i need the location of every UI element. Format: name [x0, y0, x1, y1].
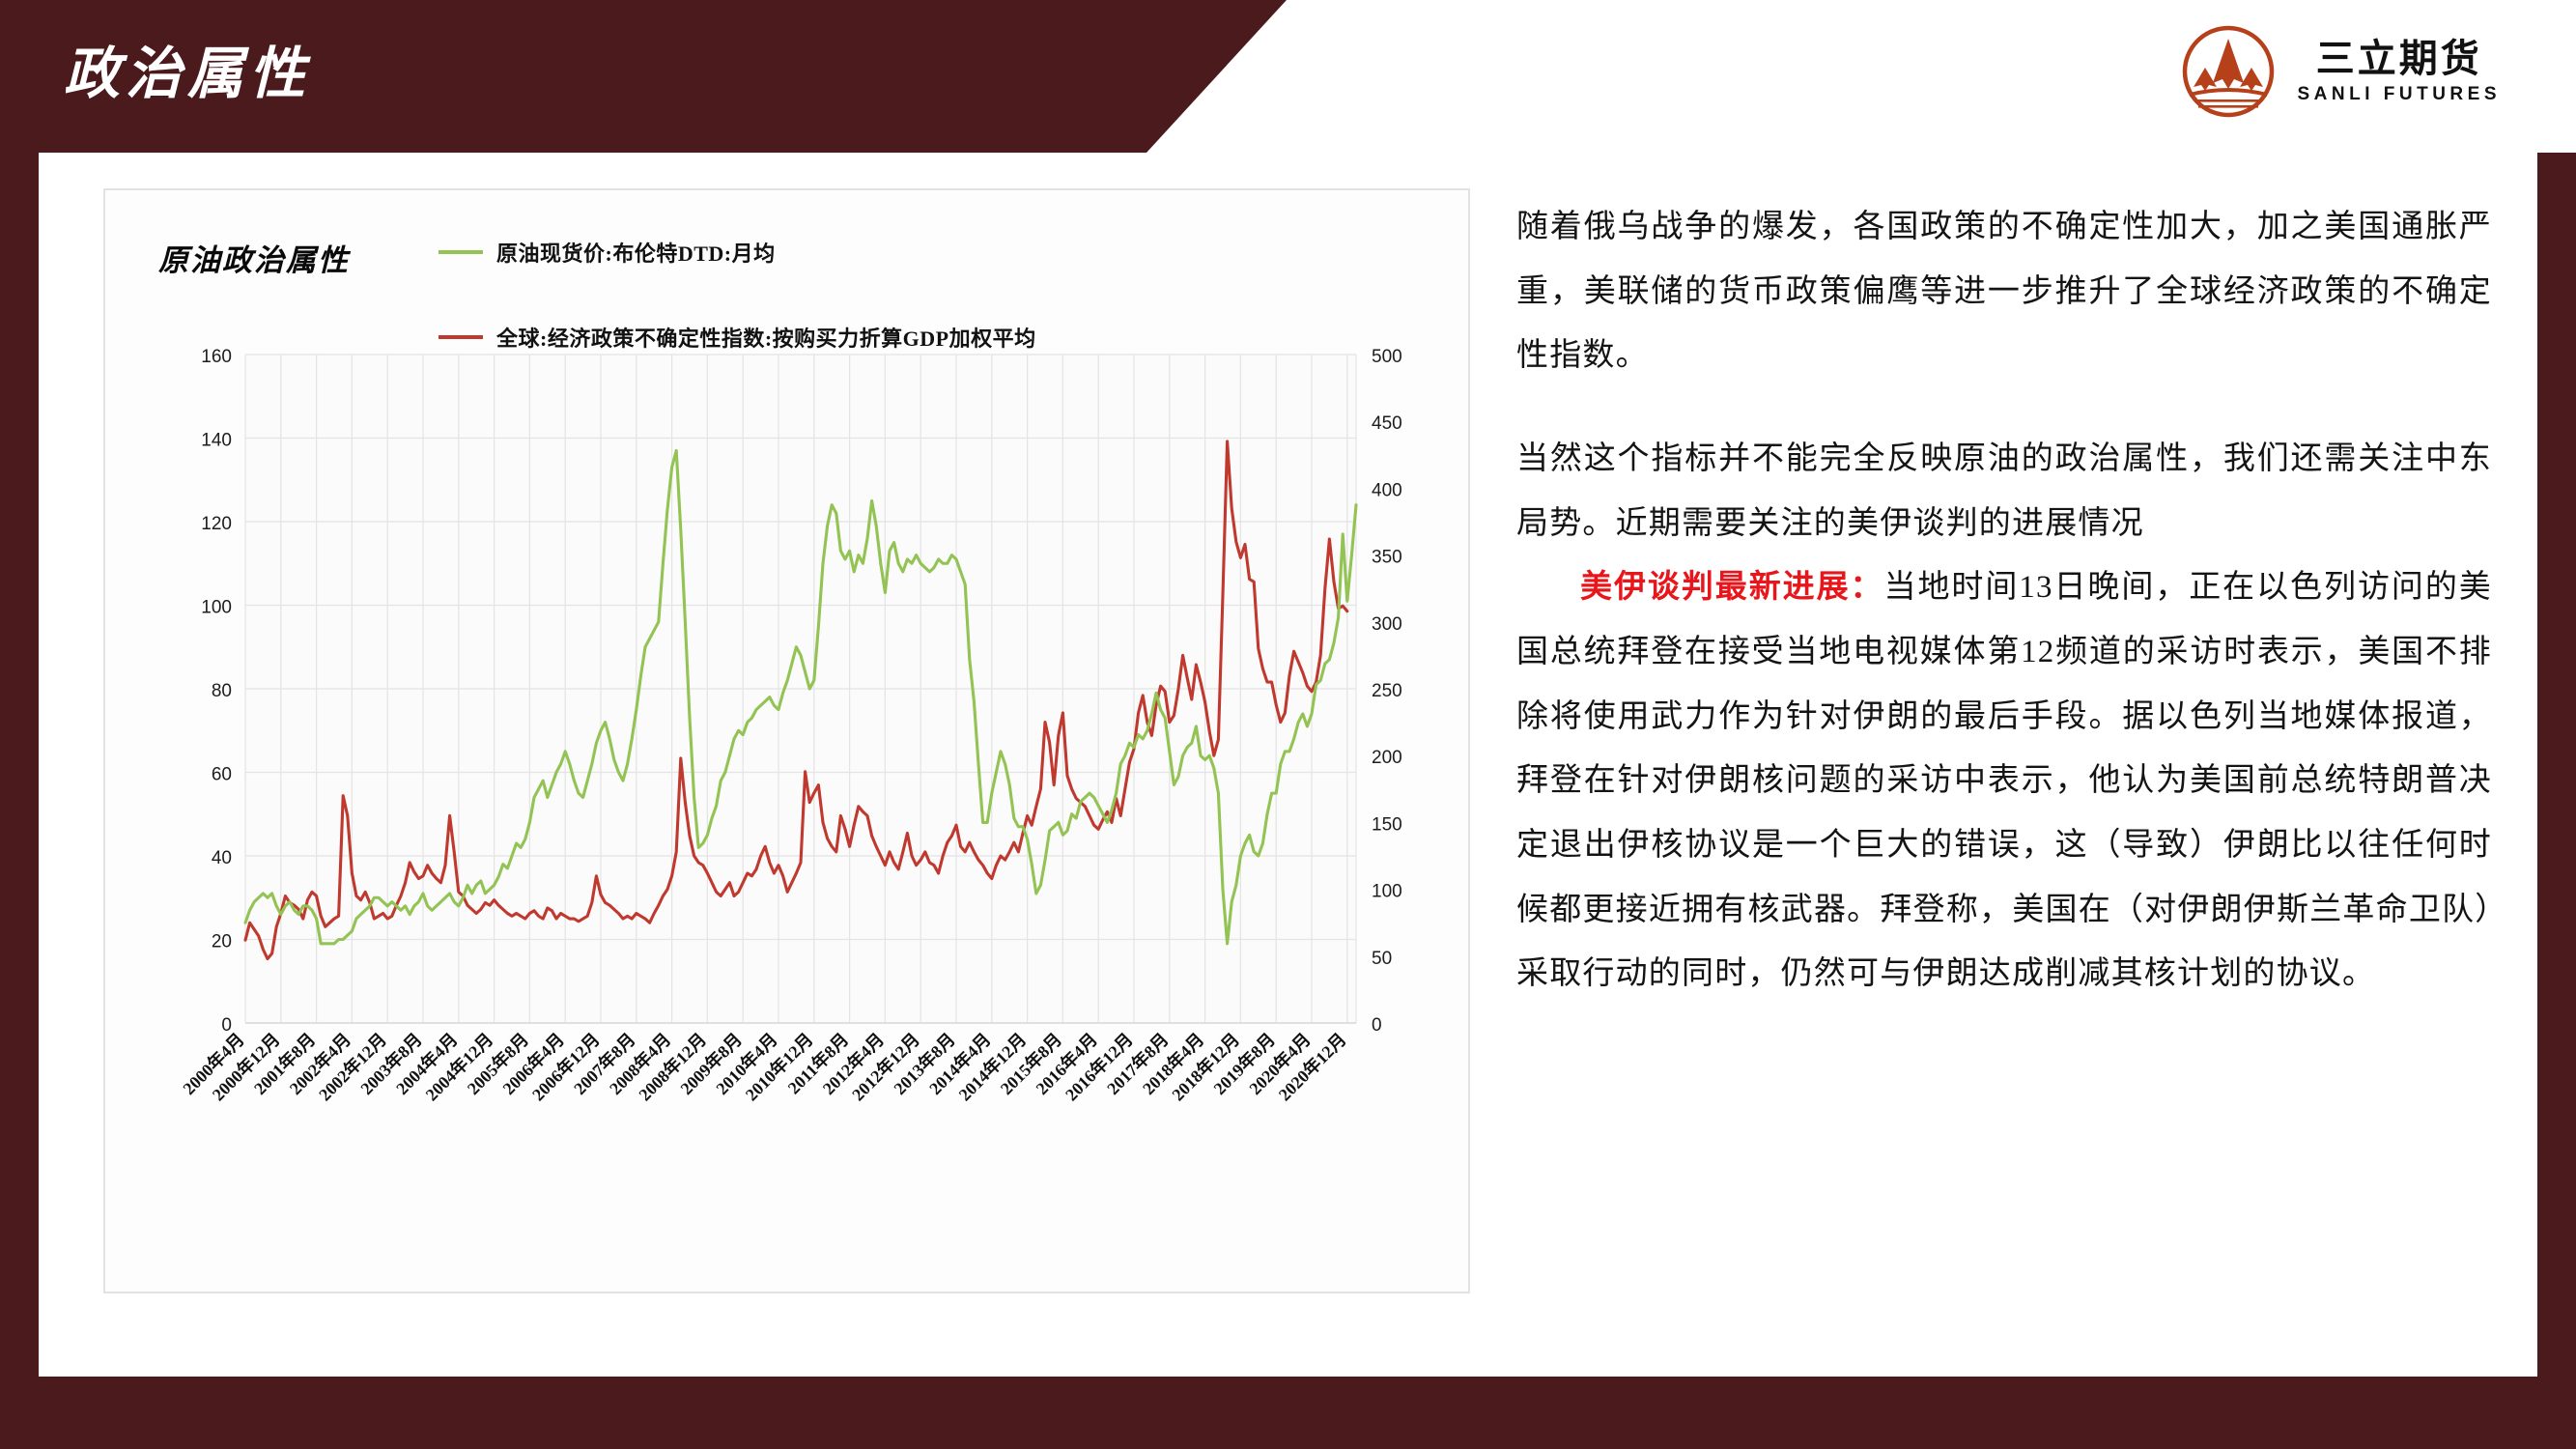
svg-text:350: 350: [1372, 548, 1402, 568]
chart-plot-area: 0204060801001201401600501001502002503003…: [105, 337, 1472, 1293]
commentary-column: 随着俄乌战争的爆发，各国政策的不确定性加大，加之美国通胀严重，美联储的货币政策偏…: [1516, 195, 2492, 1335]
svg-text:160: 160: [201, 347, 232, 367]
svg-text:80: 80: [212, 681, 232, 701]
svg-text:50: 50: [1372, 949, 1392, 969]
logo-chinese-name: 三立期货: [2316, 39, 2482, 79]
logo-text-block: 三立期货 SANLI FUTURES: [2298, 39, 2502, 105]
svg-text:400: 400: [1372, 480, 1402, 500]
chart-title: 原油政治属性: [158, 236, 350, 279]
svg-text:120: 120: [201, 514, 232, 534]
svg-text:100: 100: [1372, 882, 1402, 902]
mountain-circle-logo-icon: [2180, 23, 2277, 120]
legend-label-brent: 原油现货价:布伦特DTD:月均: [496, 237, 776, 268]
svg-text:250: 250: [1372, 681, 1402, 701]
paragraph-russia-ukraine: 随着俄乌战争的爆发，各国政策的不确定性加大，加之美国通胀严重，美联储的货币政策偏…: [1516, 195, 2492, 388]
svg-text:500: 500: [1372, 347, 1402, 367]
svg-text:140: 140: [201, 431, 232, 451]
svg-text:0: 0: [1372, 1015, 1382, 1036]
svg-text:150: 150: [1372, 814, 1402, 835]
brand-logo: 三立期货 SANLI FUTURES: [2180, 23, 2502, 120]
news-headline-highlight: 美伊谈判最新进展：: [1580, 570, 1884, 605]
svg-text:40: 40: [212, 848, 232, 868]
slide-root: 政治属性 三立期货 SANLI FUTURES 原油政治属性 原油现货价:布伦特…: [0, 0, 2576, 1449]
svg-text:60: 60: [212, 765, 232, 785]
page-title: 政治属性: [64, 46, 311, 102]
svg-text:20: 20: [212, 932, 232, 952]
svg-text:450: 450: [1372, 413, 1402, 434]
paragraph-us-iran-news: 美伊谈判最新进展：当地时间13日晚间，正在以色列访问的美国总统拜登在接受当地电视…: [1516, 555, 2492, 1007]
svg-text:200: 200: [1372, 748, 1402, 768]
legend-swatch-brent: [439, 250, 483, 254]
body-card: 原油政治属性 原油现货价:布伦特DTD:月均 全球:经济政策不确定性指数:按购买…: [39, 153, 2537, 1377]
legend-item-brent: 原油现货价:布伦特DTD:月均: [439, 225, 1404, 279]
logo-english-name: SANLI FUTURES: [2298, 84, 2502, 105]
chart-panel: 原油政治属性 原油现货价:布伦特DTD:月均 全球:经济政策不确定性指数:按购买…: [103, 188, 1470, 1293]
news-body-text: 当地时间13日晚间，正在以色列访问的美国总统拜登在接受当地电视媒体第12频道的采…: [1516, 570, 2492, 991]
chart-svg: 0204060801001201401600501001502002503003…: [105, 337, 1472, 1293]
svg-text:100: 100: [201, 598, 232, 618]
svg-text:300: 300: [1372, 614, 1402, 635]
paragraph-middle-east: 当然这个指标并不能完全反映原油的政治属性，我们还需关注中东局势。近期需要关注的美…: [1516, 427, 2492, 555]
